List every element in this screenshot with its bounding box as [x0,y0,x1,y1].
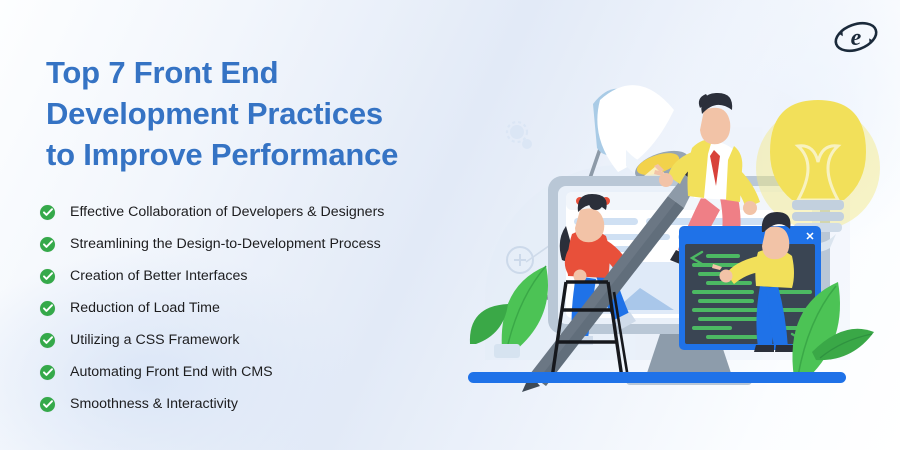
list-item-label: Effective Collaboration of Developers & … [70,205,384,219]
list-item: Effective Collaboration of Developers & … [40,196,490,228]
list-item: Automating Front End with CMS [40,356,490,388]
check-circle-icon [40,365,55,380]
title-line-1: Top 7 Front End [46,52,476,93]
floor-bar [468,372,846,383]
check-circle-icon [40,301,55,316]
list-item: Streamlining the Design-to-Development P… [40,228,490,260]
hero-illustration: ✕ [430,0,900,450]
list-item: Utilizing a CSS Framework [40,324,490,356]
list-item-label: Automating Front End with CMS [70,365,273,379]
check-circle-icon [40,237,55,252]
list-item: Creation of Better Interfaces [40,260,490,292]
list-item: Reduction of Load Time [40,292,490,324]
infographic-canvas: e Top 7 Front End Development Practices … [0,0,900,450]
check-circle-icon [40,333,55,348]
list-item-label: Utilizing a CSS Framework [70,333,240,347]
check-circle-icon [40,397,55,412]
list-item-label: Smoothness & Interactivity [70,397,238,411]
page-title: Top 7 Front End Development Practices to… [46,52,476,176]
title-line-2: Development Practices [46,93,476,134]
list-item-label: Streamlining the Design-to-Development P… [70,237,381,251]
check-circle-icon [40,269,55,284]
list-item-label: Creation of Better Interfaces [70,269,247,283]
close-icon[interactable]: ✕ [805,231,814,243]
checklist: Effective Collaboration of Developers & … [40,196,490,420]
list-item: Smoothness & Interactivity [40,388,490,420]
title-line-3: to Improve Performance [46,134,476,175]
gear-icon [507,122,532,149]
check-circle-icon [40,205,55,220]
list-item-label: Reduction of Load Time [70,301,220,315]
